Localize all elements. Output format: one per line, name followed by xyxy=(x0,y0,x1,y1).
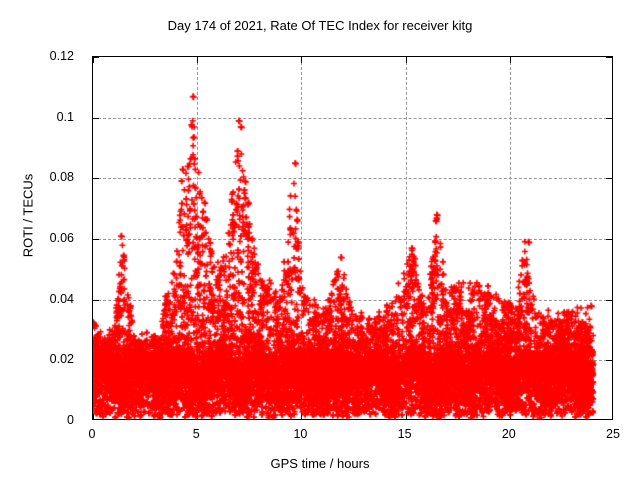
y-tick-label: 0.12 xyxy=(50,49,74,63)
y-axis-title: ROTI / TECUs xyxy=(21,136,36,296)
x-tick-label: 25 xyxy=(606,427,620,441)
y-tick-label: 0.04 xyxy=(50,292,74,306)
x-axis-tick-labels: 0510152025 xyxy=(92,427,613,447)
x-tick-label: 5 xyxy=(193,427,200,441)
x-tick-label: 15 xyxy=(398,427,412,441)
y-tick-label: 0 xyxy=(67,413,74,427)
page-title: Day 174 of 2021, Rate Of TEC Index for r… xyxy=(0,18,640,33)
x-tick-label: 20 xyxy=(502,427,516,441)
y-tick-label: 0.1 xyxy=(57,110,74,124)
x-axis-title: GPS time / hours xyxy=(0,456,640,471)
scatter-plot-canvas xyxy=(93,57,613,420)
y-tick-label: 0.06 xyxy=(50,231,74,245)
x-tick-label: 10 xyxy=(293,427,307,441)
plot-area xyxy=(92,56,613,420)
y-tick-label: 0.02 xyxy=(50,352,74,366)
y-axis-tick-labels: 00.020.040.060.080.10.12 xyxy=(0,56,84,420)
x-tick-label: 0 xyxy=(89,427,96,441)
y-tick-label: 0.08 xyxy=(50,170,74,184)
chart-figure: Day 174 of 2021, Rate Of TEC Index for r… xyxy=(0,0,640,480)
